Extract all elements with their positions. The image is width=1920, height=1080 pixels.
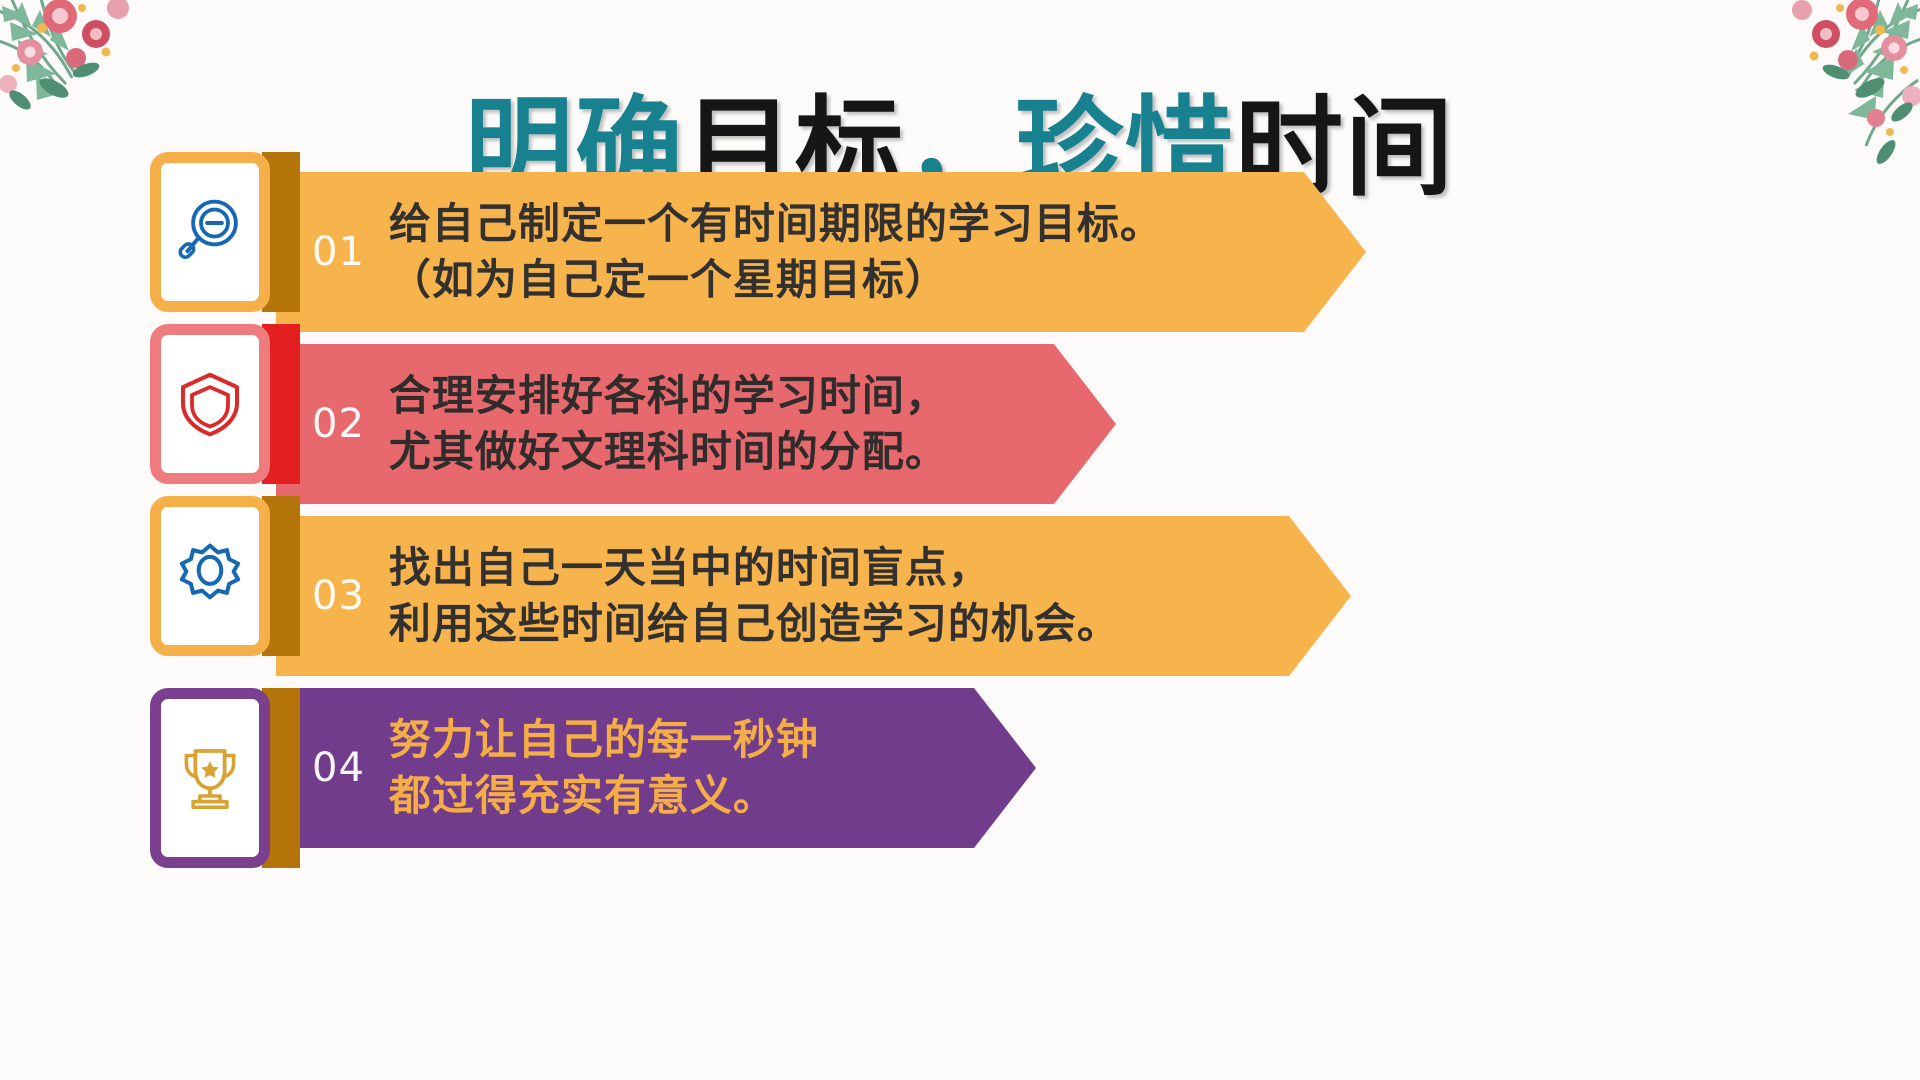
- banner-04[interactable]: 04 努力让自己的每一秒钟 都过得充实有意义。: [276, 688, 1036, 848]
- shield-icon: [174, 368, 246, 440]
- trophy-icon: [174, 742, 246, 814]
- slide-canvas: 明确目标，珍惜时间 01 给自己制定一个有时间期限的学习目标。 （如为自己定一个…: [0, 0, 1920, 1080]
- icon-card-01[interactable]: [150, 152, 270, 312]
- step-number-04: 04: [312, 745, 365, 791]
- banner-03[interactable]: 03 找出自己一天当中的时间盲点， 利用这些时间给自己创造学习的机会。: [276, 516, 1351, 676]
- banner-02[interactable]: 02 合理安排好各科的学习时间， 尤其做好文理科时间的分配。: [276, 344, 1116, 504]
- step-number-01: 01: [312, 229, 365, 275]
- icon-card-04[interactable]: [150, 688, 270, 868]
- gear-icon: [174, 540, 246, 612]
- steps-list: 01 给自己制定一个有时间期限的学习目标。 （如为自己定一个星期目标）: [0, 152, 1920, 1052]
- magnifier-minus-icon: [174, 196, 246, 268]
- step-text-03: 找出自己一天当中的时间盲点， 利用这些时间给自己创造学习的机会。: [389, 540, 1120, 652]
- step-number-02: 02: [312, 401, 365, 447]
- step-text-01: 给自己制定一个有时间期限的学习目标。 （如为自己定一个星期目标）: [389, 196, 1163, 308]
- step-number-03: 03: [312, 573, 365, 619]
- step-text-02: 合理安排好各科的学习时间， 尤其做好文理科时间的分配。: [389, 368, 948, 480]
- step-text-04: 努力让自己的每一秒钟 都过得充实有意义。: [389, 712, 819, 824]
- icon-card-03[interactable]: [150, 496, 270, 656]
- banner-01[interactable]: 01 给自己制定一个有时间期限的学习目标。 （如为自己定一个星期目标）: [276, 172, 1366, 332]
- icon-card-02[interactable]: [150, 324, 270, 484]
